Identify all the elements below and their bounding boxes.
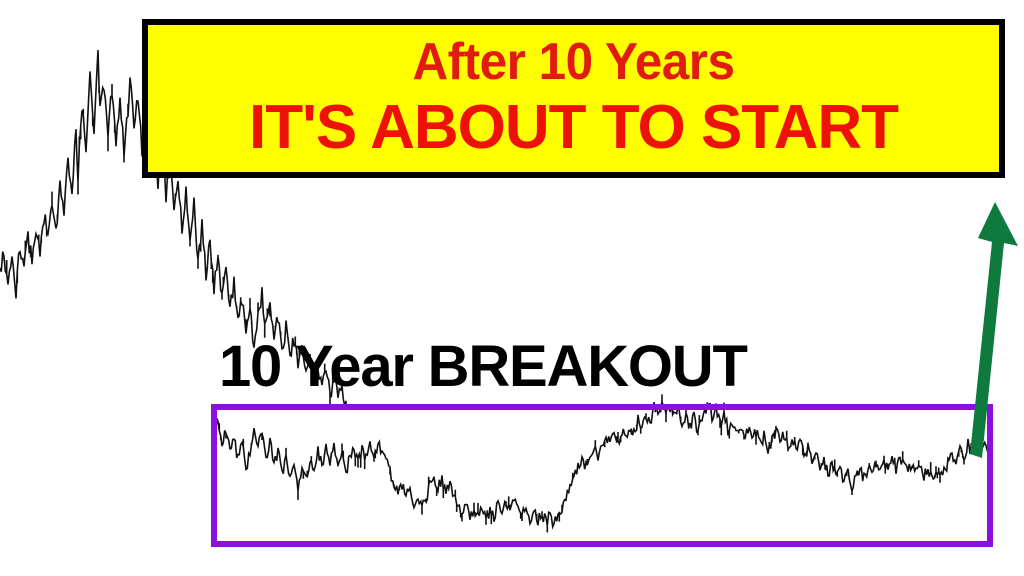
headline-line-2: IT'S ABOUT TO START xyxy=(249,95,898,160)
screenshot-root: 10 Year BREAKOUT After 10 Years IT'S ABO… xyxy=(0,0,1024,576)
breakout-arrow-icon xyxy=(952,196,1018,458)
consolidation-range-box xyxy=(211,404,993,547)
headline-banner: After 10 Years IT'S ABOUT TO START xyxy=(142,19,1005,178)
breakout-label: 10 Year BREAKOUT xyxy=(219,338,959,396)
arrow-shape xyxy=(970,202,1018,458)
headline-line-1: After 10 Years xyxy=(412,35,734,90)
